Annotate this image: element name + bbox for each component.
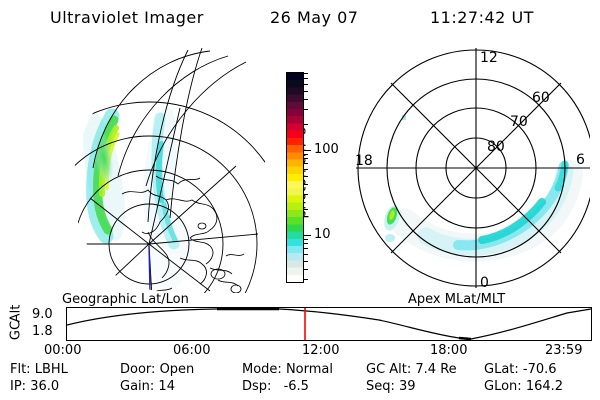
colorbar-minor-tick xyxy=(304,269,308,270)
orbit-altitude-curve xyxy=(67,308,591,340)
orbit-xtick-4: 23:59 xyxy=(545,343,582,358)
status-door-label: Door: xyxy=(120,362,155,377)
orbit-altitude-strip[interactable]: Geographic Lat/Lon Apex MLat/MLT Alt GC … xyxy=(0,292,600,354)
colorbar-minor-tick xyxy=(304,209,308,210)
observation-time: 11:27:42 UT xyxy=(430,8,534,27)
colorbar-minor-tick xyxy=(304,169,308,170)
colorbar-minor-tick xyxy=(304,124,308,125)
status-block: Flt: LBHL Door: Open Mode: Normal GC Alt… xyxy=(0,362,600,398)
colorbar-minor-tick xyxy=(304,91,308,92)
status-mode: Mode: Normal xyxy=(242,362,333,377)
mlt-label-12: 12 xyxy=(480,50,498,66)
geographic-image-panel[interactable] xyxy=(60,48,265,293)
colorbar-minor-tick xyxy=(304,261,308,262)
colorbar-minor-tick xyxy=(304,73,308,74)
uvi-summary-plot: Ultraviolet Imager 26 May 07 11:27:42 UT xyxy=(0,0,600,400)
colorbar-major-tick xyxy=(304,235,311,236)
apex-mlt-dial-panel[interactable]: 12 18 6 0 60 70 80 xyxy=(330,40,590,295)
mlt-label-0: 0 xyxy=(480,275,489,291)
orbit-ytick-high: 9.0 xyxy=(32,307,53,322)
status-door: Door: Open xyxy=(120,362,194,377)
status-flt-label: Flt: xyxy=(10,362,31,377)
status-glat-label: GLat: xyxy=(484,362,519,377)
instrument-title: Ultraviolet Imager xyxy=(50,8,204,27)
colorbar-ticks xyxy=(304,72,312,283)
status-seq: Seq: 39 xyxy=(366,379,416,394)
status-glon-label: GLon: xyxy=(484,379,522,394)
lat-label-80: 80 xyxy=(487,139,505,155)
status-glon-value: 164.2 xyxy=(526,379,563,394)
status-door-value: Open xyxy=(160,362,195,377)
colorbar-minor-tick xyxy=(304,84,308,85)
status-glat: GLat: -70.6 xyxy=(484,362,557,377)
colorbar-minor-tick xyxy=(304,254,308,255)
status-gcalt: GC Alt: 7.4 Re xyxy=(366,362,457,377)
spacecraft-track-marker xyxy=(149,246,150,292)
status-ip-value: 36.0 xyxy=(30,379,59,394)
colorbar-gradient xyxy=(287,73,303,282)
status-gcalt-value: 7.4 Re xyxy=(415,362,456,377)
colorbar-swatch xyxy=(286,72,304,283)
status-mode-value: Normal xyxy=(286,362,333,377)
status-dsp-label: Dsp: xyxy=(242,379,271,394)
status-flt-value: LBHL xyxy=(35,362,68,377)
mlt-panel-caption: Apex MLat/MLT xyxy=(408,292,505,307)
orbit-ytick-low: 1.8 xyxy=(32,324,53,339)
lat-label-70: 70 xyxy=(510,114,528,130)
status-gain-value: 14 xyxy=(158,379,175,394)
status-row: IP: 36.0 Gain: 14 Dsp: -6.5 Seq: 39 GLon… xyxy=(0,379,600,396)
colorbar-minor-tick xyxy=(304,99,308,100)
colorbar-tick-label: 10 xyxy=(314,228,331,241)
altitude-trace xyxy=(67,309,591,339)
colorbar-minor-tick xyxy=(304,176,308,177)
status-mode-label: Mode: xyxy=(242,362,282,377)
status-gain: Gain: 14 xyxy=(120,379,175,394)
status-dsp: Dsp: -6.5 xyxy=(242,379,309,394)
orbit-x-tick-labels: 00:00 06:00 12:00 18:00 23:59 xyxy=(0,343,600,359)
colorbar-minor-tick xyxy=(304,158,308,159)
status-seq-value: 39 xyxy=(399,379,416,394)
colorbar-minor-tick xyxy=(304,248,308,249)
altitude-perigee-segment xyxy=(459,338,471,339)
orbit-xtick-2: 12:00 xyxy=(302,343,339,358)
geographic-projection xyxy=(60,48,265,293)
status-glat-value: -70.6 xyxy=(523,362,557,377)
colorbar-minor-tick xyxy=(304,243,308,244)
colorbar-minor-tick xyxy=(304,154,308,155)
mlt-label-18: 18 xyxy=(355,153,373,169)
lat-label-60: 60 xyxy=(532,90,550,106)
colorbar-major-tick xyxy=(304,150,311,151)
geographic-panel-caption: Geographic Lat/Lon xyxy=(62,292,189,307)
status-flt: Flt: LBHL xyxy=(10,362,68,377)
orbit-xtick-0: 00:00 xyxy=(44,343,81,358)
status-seq-label: Seq: xyxy=(366,379,395,394)
colorbar-minor-tick xyxy=(304,163,308,164)
status-glon: GLon: 164.2 xyxy=(484,379,563,394)
orbit-plot-box[interactable] xyxy=(66,307,592,341)
colorbar-minor-tick xyxy=(304,184,308,185)
status-row: Flt: LBHL Door: Open Mode: Normal GC Alt… xyxy=(0,362,600,379)
colorbar-minor-tick xyxy=(304,78,308,79)
colorbar-minor-tick xyxy=(304,194,308,195)
aurora-emission-bright xyxy=(91,116,175,244)
mlt-polar-plot: 12 18 6 0 60 70 80 xyxy=(330,40,590,295)
colorbar-minor-tick xyxy=(304,109,308,110)
colorbar-minor-tick xyxy=(304,239,308,240)
status-dsp-value: -6.5 xyxy=(284,379,309,394)
status-gcalt-label: GC Alt: xyxy=(366,362,411,377)
colorbar-minor-tick xyxy=(304,279,308,280)
observation-date: 26 May 07 xyxy=(270,8,358,27)
status-ip: IP: 36.0 xyxy=(10,379,59,394)
mlt-label-6: 6 xyxy=(576,152,585,168)
orbit-xtick-3: 18:00 xyxy=(430,343,467,358)
status-gain-label: Gain: xyxy=(120,379,154,394)
header-bar: Ultraviolet Imager 26 May 07 11:27:42 UT xyxy=(0,8,600,34)
status-ip-label: IP: xyxy=(10,379,26,394)
orbit-xtick-1: 06:00 xyxy=(173,343,210,358)
